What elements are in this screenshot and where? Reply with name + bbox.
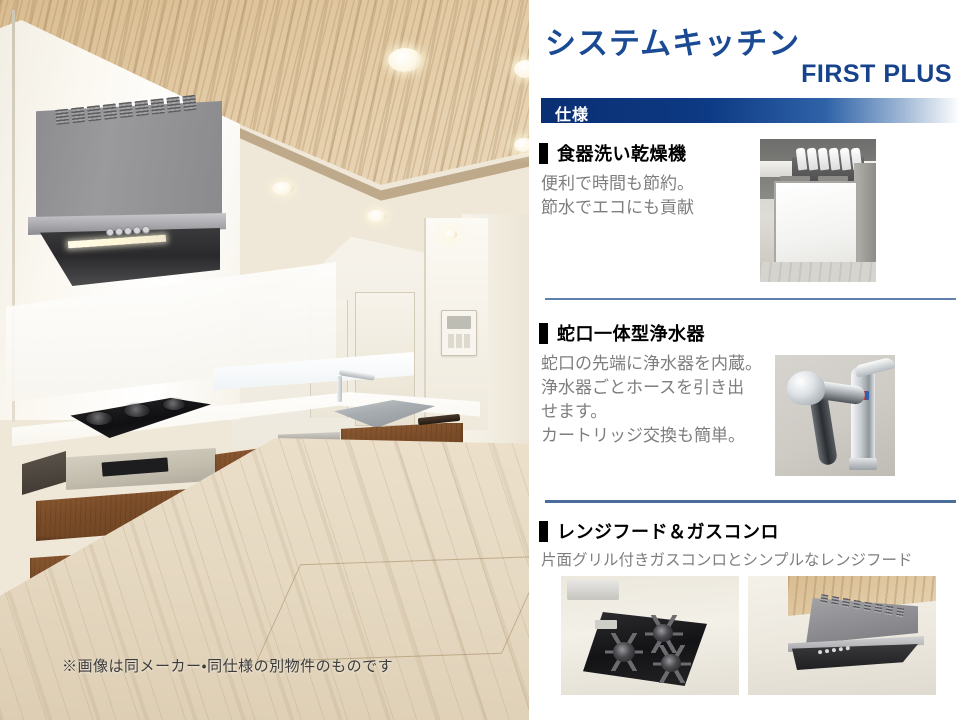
page-title: システムキッチン bbox=[545, 18, 800, 63]
stove-burner bbox=[661, 654, 681, 672]
kitchen-spec-sheet: ※画像は同メーカー・同仕様の別物件のものです システムキッチン FIRST PL… bbox=[0, 0, 960, 720]
ceiling-downlight bbox=[443, 230, 457, 239]
cabinet-vent-grille bbox=[22, 451, 66, 495]
photo-disclaimer-caption: ※画像は同メーカー・同仕様の別物件のものです bbox=[62, 655, 393, 676]
dishwasher-photo bbox=[760, 139, 876, 282]
section-title: 食器洗い乾燥機 bbox=[557, 140, 687, 166]
spec-banner-label: 仕様 bbox=[555, 101, 589, 125]
range-hood-photo bbox=[748, 576, 936, 695]
section-body-dishwasher: 便利で時間も節約。 節水でエコにも貢献 bbox=[541, 172, 694, 220]
spec-panel: システムキッチン FIRST PLUS 仕様 食器洗い乾燥機 便利で時間も節約。… bbox=[529, 0, 960, 720]
bar-marker-icon bbox=[539, 521, 548, 542]
section-body-faucet: 蛇口の先端に浄水器を内蔵。 浄水器ごとホースを引き出 せます。 カートリッジ交換… bbox=[541, 352, 762, 449]
faucet-column bbox=[851, 367, 875, 467]
section-heading-dishwasher: 食器洗い乾燥機 bbox=[539, 140, 687, 166]
faucet-purifier-head bbox=[787, 371, 825, 405]
section-body-hood-cooktop: 片面グリル付きガスコンロとシンプルなレンジフード bbox=[541, 548, 913, 570]
main-kitchen-photo: ※画像は同メーカー・同仕様の別物件のものです bbox=[0, 0, 529, 720]
kitchen-faucet bbox=[331, 372, 375, 402]
ceiling-downlight bbox=[272, 182, 294, 195]
section-divider bbox=[545, 298, 956, 300]
cooktop-burner bbox=[163, 399, 185, 410]
section-heading-faucet: 蛇口一体型浄水器 bbox=[539, 320, 705, 346]
ceiling-downlight bbox=[367, 210, 387, 222]
cooktop-control-panel bbox=[66, 448, 216, 490]
faucet-photo bbox=[775, 355, 895, 476]
cooktop-burner bbox=[124, 404, 150, 417]
bar-marker-icon bbox=[539, 143, 548, 164]
faucet-base bbox=[849, 458, 877, 470]
section-divider bbox=[545, 500, 956, 503]
stove-label bbox=[595, 620, 617, 629]
brand-name: FIRST PLUS bbox=[801, 60, 952, 89]
ceiling-downlight bbox=[514, 138, 529, 152]
ceiling-downlight bbox=[388, 48, 422, 72]
stove-burner bbox=[613, 642, 635, 662]
bar-marker-icon bbox=[539, 323, 548, 344]
faucet-hose bbox=[810, 398, 838, 466]
stove-burner bbox=[653, 624, 673, 642]
section-title: 蛇口一体型浄水器 bbox=[557, 320, 705, 346]
floor-access-hatch bbox=[256, 556, 529, 662]
wall-intercom-panel bbox=[441, 310, 477, 356]
gas-cooktop-photo bbox=[561, 576, 739, 695]
stove-upper-hood bbox=[567, 580, 619, 600]
section-title: レンジフード＆ガスコンロ bbox=[557, 518, 779, 544]
spec-banner: 仕様 bbox=[541, 98, 960, 123]
cooktop-burner bbox=[86, 412, 112, 425]
dw-floor bbox=[760, 262, 876, 282]
section-heading-hood-cooktop: レンジフード＆ガスコンロ bbox=[539, 518, 779, 544]
